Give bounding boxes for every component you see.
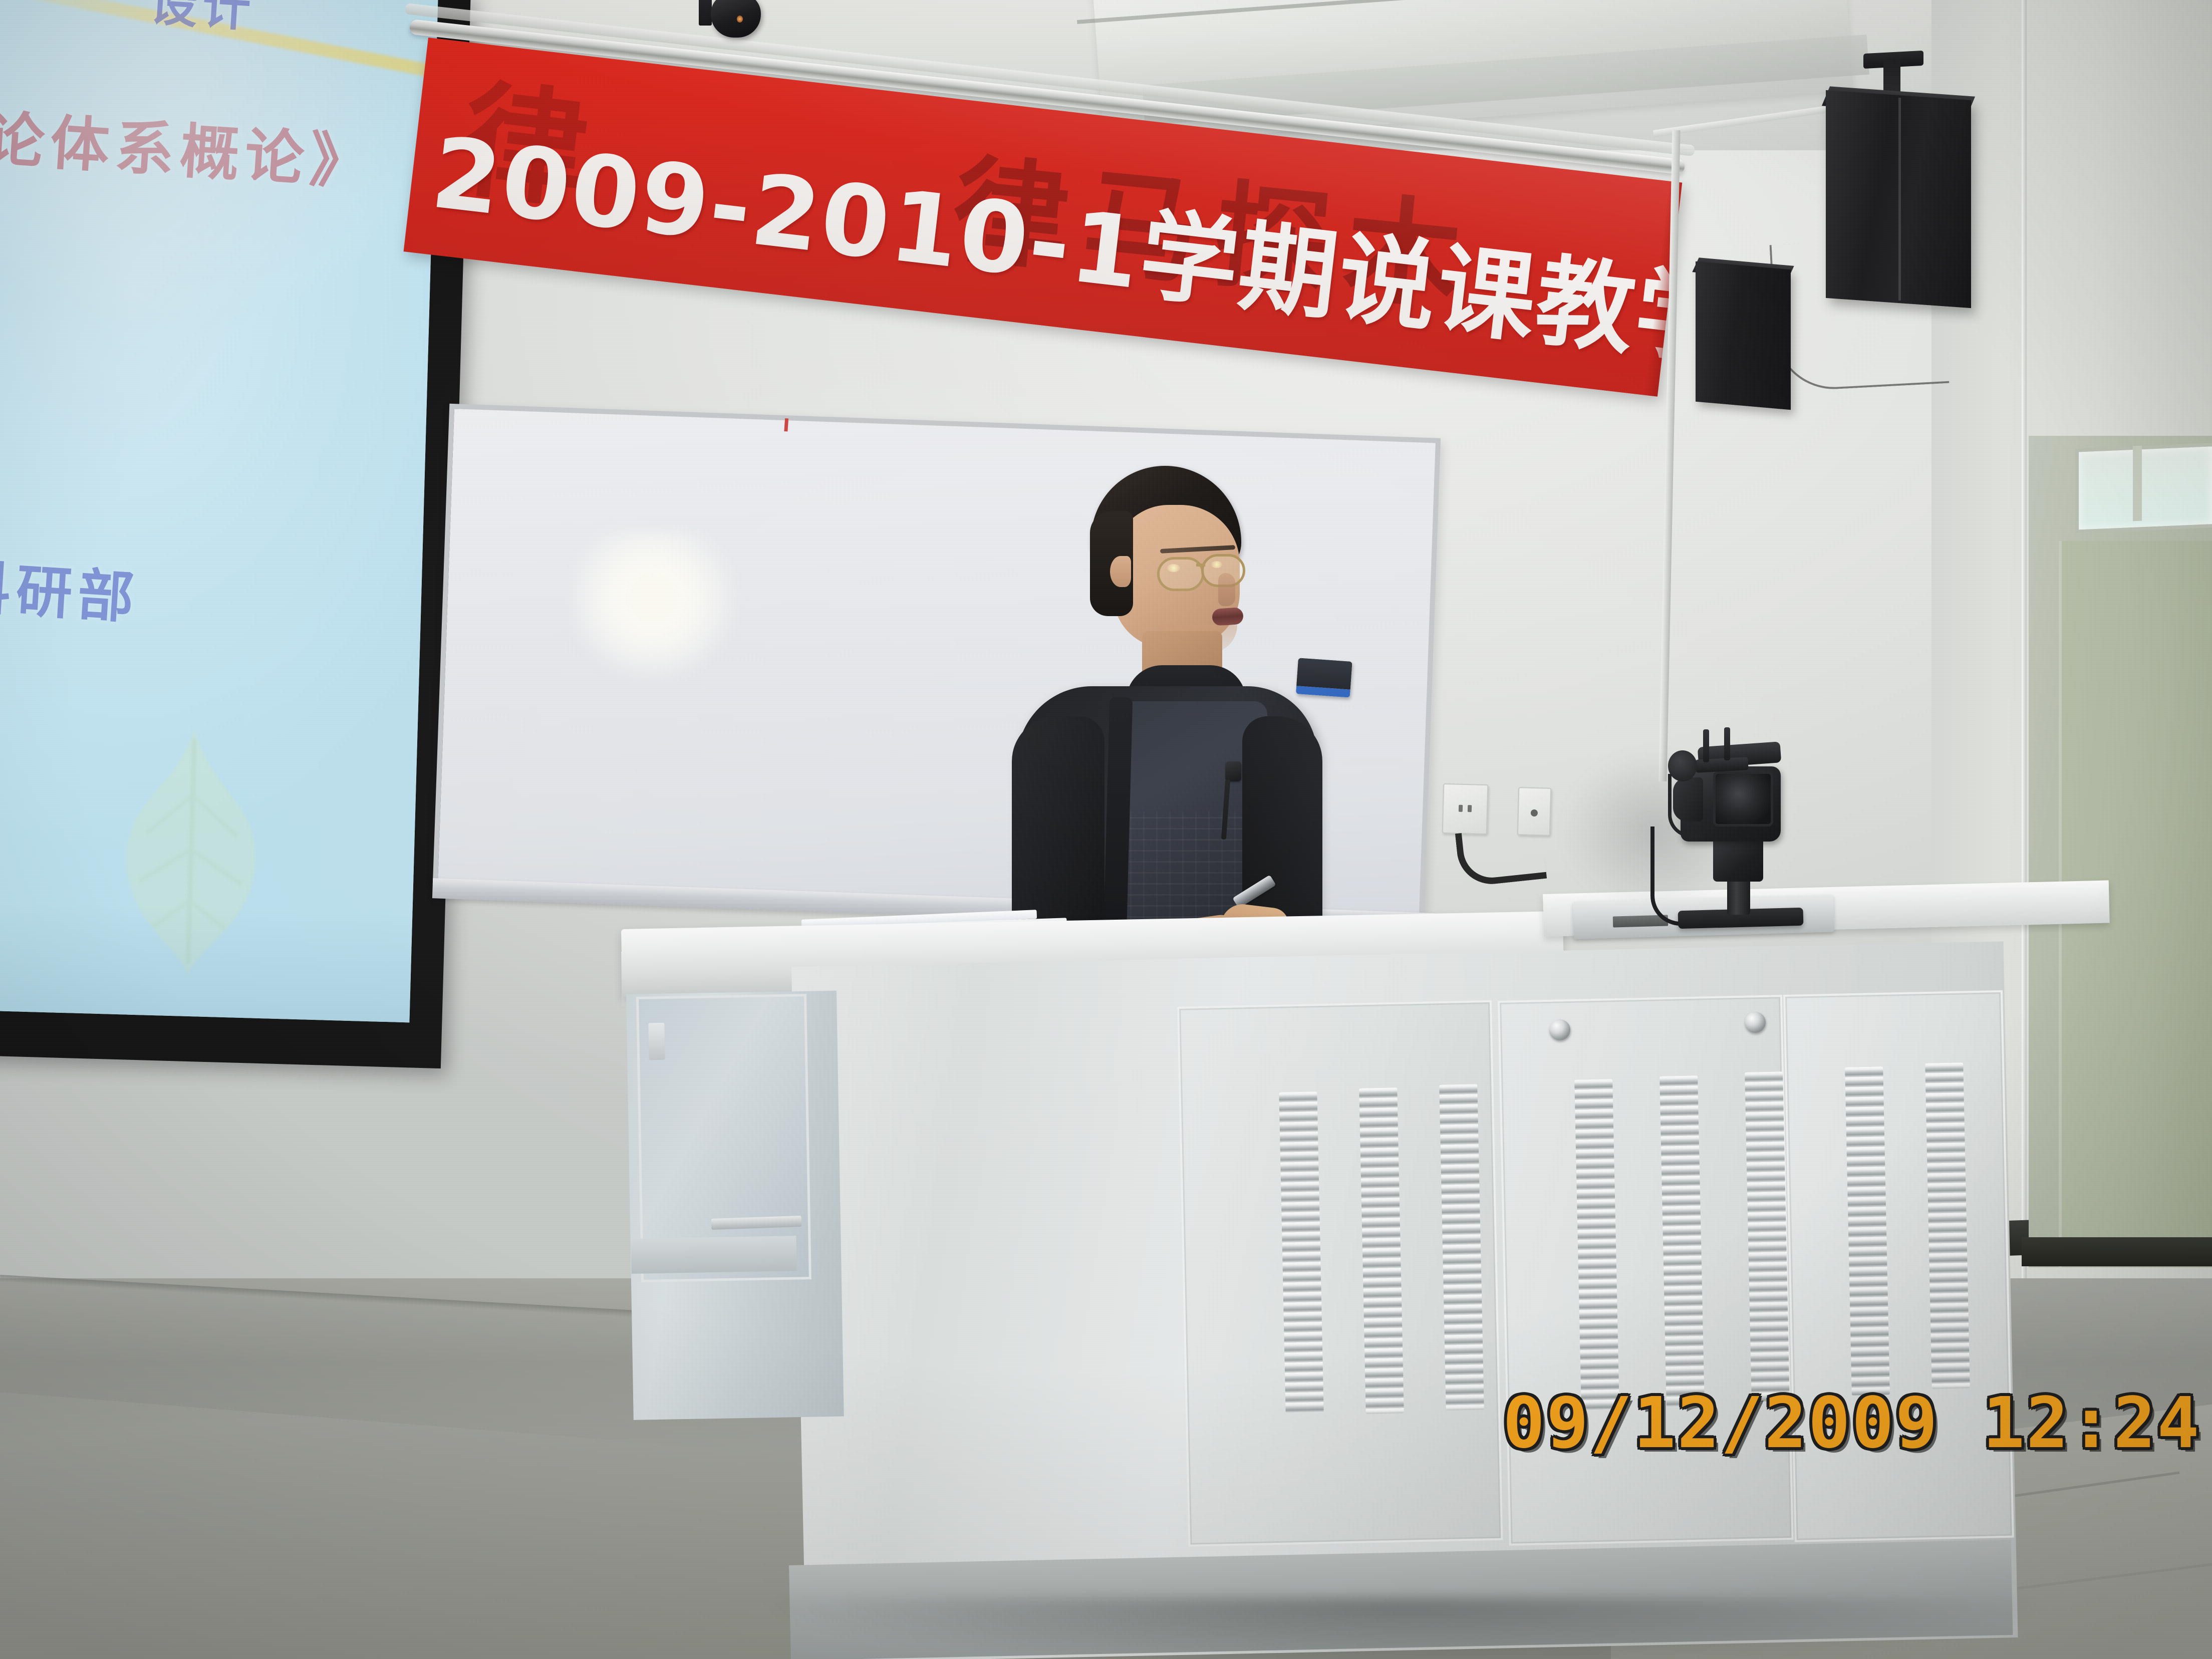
- podium-vent-louvers: [1925, 1062, 1970, 1389]
- camera-led-icon: [737, 16, 743, 23]
- slide-department: 与科研部: [0, 538, 142, 635]
- presenter: [992, 466, 1342, 977]
- podium-vent-louvers: [1745, 1071, 1790, 1403]
- lapel-microphone: [1225, 761, 1241, 781]
- projected-slide: 设计 理论体系概论》 与科研部: [0, 0, 438, 1022]
- camera-timestamp: 09/12/2009 12:24: [1503, 1382, 2200, 1464]
- wall-baseboard: [2022, 1237, 2212, 1266]
- glasses-glint: [1211, 561, 1222, 568]
- outlet-slot-icon: [1459, 805, 1463, 812]
- wall-corner-edge: [2022, 0, 2027, 1282]
- podium-door-latch[interactable]: [648, 1023, 665, 1060]
- ceiling-security-camera: [699, 0, 766, 48]
- camera-mic-cable: [1668, 774, 1703, 838]
- podium-left-base: [631, 1236, 796, 1274]
- whiteboard-glare: [570, 528, 740, 684]
- outlet-slot-icon: [1468, 805, 1472, 812]
- podium-vent-louvers: [1359, 1087, 1404, 1414]
- camera-pan-head[interactable]: [1713, 837, 1763, 882]
- camcorder-lens: [1713, 771, 1773, 826]
- slide-heading-top: 设计: [148, 0, 258, 41]
- podium-cam-lock[interactable]: [1549, 1019, 1570, 1040]
- slide-course-title: 理论体系概论》: [0, 86, 378, 201]
- podium-vent-louvers: [1845, 1066, 1890, 1395]
- podium-vent-louvers: [1574, 1079, 1619, 1410]
- podium-vent-louvers: [1660, 1075, 1705, 1407]
- transom-mullion: [2133, 446, 2142, 521]
- podium-vent-louvers: [1279, 1091, 1323, 1413]
- slide-leaf-graphic: [98, 718, 285, 984]
- camera-housing: [711, 0, 761, 38]
- presenter-ear: [1110, 556, 1131, 587]
- camera-mount-arm: [699, 0, 712, 26]
- projection-screen: 设计 理论体系概论》 与科研部: [0, 0, 471, 1068]
- transom-window: [2075, 443, 2212, 533]
- speaker-small: [1696, 261, 1791, 410]
- glasses-left-lens: [1157, 557, 1204, 591]
- glasses-glint: [1167, 564, 1180, 572]
- glasses-bridge: [1196, 564, 1205, 567]
- podium-cam-lock[interactable]: [1745, 1012, 1766, 1033]
- presenter-mouth: [1212, 607, 1244, 626]
- speaker-large-seam: [1898, 98, 1901, 301]
- camera-antenna-icon: [1703, 729, 1709, 762]
- whiteboard-marker[interactable]: [784, 418, 788, 431]
- photo-scene: 设计 理论体系概论》 与科研部 律 律马探木 2009-2010-1学期说课教学…: [0, 0, 2212, 1659]
- outlet-port-icon: [1531, 809, 1538, 816]
- podium-floor-shadow: [771, 1598, 2034, 1659]
- presenter-nose: [1218, 573, 1235, 606]
- camera-antenna-icon: [1724, 727, 1730, 760]
- wall-power-outlet[interactable]: [1442, 783, 1489, 835]
- podium-vent-louvers: [1439, 1084, 1484, 1410]
